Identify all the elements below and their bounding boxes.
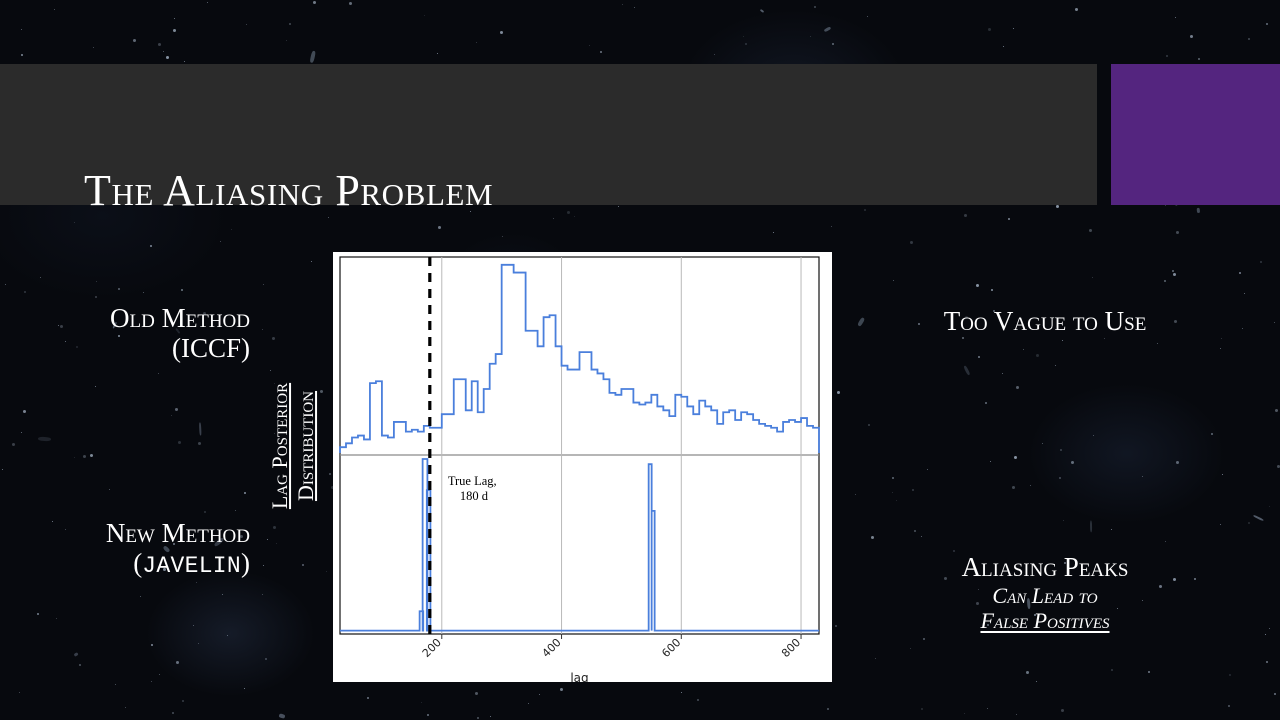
xtick-label-600: 600 xyxy=(659,636,683,660)
star xyxy=(349,2,352,5)
star xyxy=(83,455,86,458)
star-streak xyxy=(1253,514,1264,520)
star xyxy=(1003,46,1004,47)
caption-new-method-line2: (JAVELIN) xyxy=(10,548,250,580)
star xyxy=(5,284,6,285)
star xyxy=(244,492,246,494)
star-streak xyxy=(964,366,971,376)
star xyxy=(326,571,327,572)
xtick-label-400: 400 xyxy=(540,636,564,660)
star xyxy=(262,329,263,330)
star xyxy=(1269,628,1270,629)
star xyxy=(567,211,570,214)
star-streak xyxy=(73,652,78,657)
star xyxy=(490,716,491,717)
star xyxy=(181,289,183,291)
caption-aliasing-sub2: False Positives xyxy=(895,609,1195,634)
star xyxy=(1239,272,1241,274)
star xyxy=(987,708,988,709)
star-streak xyxy=(1090,520,1093,532)
star xyxy=(991,289,993,291)
star xyxy=(198,643,199,644)
star xyxy=(115,684,116,685)
star xyxy=(174,18,175,19)
star xyxy=(1229,674,1231,676)
page-title: The Aliasing Problem xyxy=(84,165,493,216)
star xyxy=(868,424,870,426)
star xyxy=(143,292,144,293)
star xyxy=(1014,456,1017,459)
star xyxy=(40,277,41,278)
star xyxy=(246,24,247,25)
star xyxy=(231,229,232,230)
star xyxy=(500,31,503,34)
star-streak xyxy=(278,713,285,719)
star xyxy=(1269,506,1270,507)
star xyxy=(220,241,221,242)
star xyxy=(1172,270,1174,272)
star xyxy=(1063,520,1064,521)
star xyxy=(311,261,312,262)
star xyxy=(21,54,23,56)
star xyxy=(745,43,747,45)
star xyxy=(173,29,176,32)
star xyxy=(95,386,96,387)
star xyxy=(12,443,15,446)
star xyxy=(158,373,159,374)
star xyxy=(21,432,22,433)
star xyxy=(743,36,744,37)
star xyxy=(289,23,291,25)
star xyxy=(618,206,619,207)
chart-y-axis-label: Lag Posterior Distribution xyxy=(262,363,324,528)
star xyxy=(235,510,236,511)
star xyxy=(835,625,837,627)
star xyxy=(1008,218,1010,220)
star xyxy=(263,284,264,285)
star xyxy=(574,216,575,217)
star-streak xyxy=(200,422,202,435)
star xyxy=(1277,465,1280,468)
star xyxy=(427,714,429,716)
star xyxy=(1030,485,1031,486)
star xyxy=(1242,328,1243,329)
star xyxy=(875,658,876,659)
star xyxy=(1275,409,1278,412)
star xyxy=(864,209,866,211)
star-streak xyxy=(310,50,316,62)
lag-posterior-plot: 200400600800lagTrue Lag,180 d xyxy=(333,252,832,682)
star xyxy=(367,697,369,699)
star xyxy=(1228,705,1230,707)
star xyxy=(184,61,185,62)
star xyxy=(634,7,635,8)
star xyxy=(773,232,774,233)
star xyxy=(837,391,840,394)
star xyxy=(921,536,922,537)
star xyxy=(1211,433,1213,435)
star xyxy=(328,217,329,218)
star xyxy=(827,708,829,710)
star xyxy=(262,594,263,595)
slide: The Aliasing Problem Old Method (ICCF) N… xyxy=(0,0,1280,720)
star xyxy=(914,530,916,532)
star xyxy=(681,692,682,693)
star xyxy=(1075,8,1078,11)
caption-too-vague: Too Vague to Use xyxy=(905,306,1185,336)
star xyxy=(1220,348,1221,349)
star xyxy=(1036,681,1037,682)
star xyxy=(1089,229,1092,232)
caption-old-method-line2: (ICCF) xyxy=(10,333,250,363)
star xyxy=(24,291,26,293)
star xyxy=(172,712,174,714)
star xyxy=(227,635,228,636)
star xyxy=(539,694,540,695)
star xyxy=(313,1,316,4)
star xyxy=(198,442,201,445)
star xyxy=(1176,231,1179,234)
star xyxy=(589,45,590,46)
x-axis-title: lag xyxy=(570,671,588,682)
star xyxy=(910,241,913,244)
star xyxy=(1056,205,1059,208)
star xyxy=(437,53,438,54)
star xyxy=(502,236,503,237)
star xyxy=(1260,261,1262,263)
star xyxy=(1166,55,1168,57)
star xyxy=(421,702,422,703)
star xyxy=(263,565,264,566)
star xyxy=(193,625,194,626)
star-streak xyxy=(857,317,865,326)
star xyxy=(118,288,120,290)
star xyxy=(892,492,893,493)
y-axis-label-line2: Distribution xyxy=(293,382,319,508)
true-lag-annotation-line1: True Lag, xyxy=(448,474,497,488)
star xyxy=(1274,693,1276,695)
star xyxy=(158,43,161,46)
star xyxy=(1248,522,1250,524)
star xyxy=(1059,477,1061,479)
star xyxy=(600,51,602,53)
star xyxy=(1111,529,1112,530)
star xyxy=(1023,349,1024,350)
star xyxy=(178,441,181,444)
star xyxy=(1265,634,1266,635)
star xyxy=(438,226,441,229)
star xyxy=(302,564,304,566)
star xyxy=(1042,443,1043,444)
star xyxy=(272,337,275,340)
star xyxy=(19,692,20,693)
xtick-label-800: 800 xyxy=(779,636,803,660)
true-lag-annotation-line2: 180 d xyxy=(460,489,489,503)
star xyxy=(1092,277,1093,278)
method-name-iccf: ICCF xyxy=(181,333,241,363)
star xyxy=(267,539,268,540)
iccf-posterior-curve xyxy=(340,265,819,453)
star xyxy=(1248,38,1250,40)
star xyxy=(477,717,479,719)
y-axis-label-line1: Lag Posterior xyxy=(267,382,293,508)
star xyxy=(1148,671,1150,673)
caption-new-method: New Method (JAVELIN) xyxy=(10,518,250,580)
star xyxy=(1012,486,1015,489)
star xyxy=(424,15,425,16)
star xyxy=(528,703,529,704)
star xyxy=(896,500,897,501)
star xyxy=(222,594,223,595)
star xyxy=(196,582,197,583)
star xyxy=(1060,449,1062,451)
star xyxy=(1013,28,1014,29)
star xyxy=(912,489,914,491)
star xyxy=(831,226,832,227)
star xyxy=(23,410,26,413)
accent-block xyxy=(1111,64,1280,205)
star xyxy=(286,40,287,41)
star xyxy=(276,543,277,544)
star xyxy=(163,51,164,52)
star xyxy=(622,4,623,5)
star xyxy=(476,42,477,43)
star xyxy=(921,708,923,710)
star xyxy=(1026,671,1029,674)
star xyxy=(109,489,110,490)
star-streak xyxy=(38,437,51,442)
star xyxy=(560,688,563,691)
star xyxy=(1220,524,1221,525)
star xyxy=(244,688,245,689)
star xyxy=(988,28,991,31)
star xyxy=(176,661,179,664)
star xyxy=(265,658,267,660)
star xyxy=(893,280,894,281)
caption-old-method-line1: Old Method xyxy=(10,303,250,333)
star xyxy=(855,494,856,495)
star xyxy=(1244,293,1245,294)
star xyxy=(1165,205,1166,206)
xtick-label-200: 200 xyxy=(420,636,444,660)
star xyxy=(182,700,184,702)
star xyxy=(1173,273,1176,276)
star xyxy=(1175,17,1176,18)
star xyxy=(1093,435,1094,436)
star xyxy=(1221,338,1222,339)
star xyxy=(1036,354,1039,357)
star xyxy=(964,214,967,217)
star xyxy=(1176,461,1179,464)
star xyxy=(910,648,911,649)
star xyxy=(171,415,172,416)
lag-posterior-figure: 200400600800lagTrue Lag,180 d xyxy=(333,252,832,682)
paren-close: ) xyxy=(241,333,250,363)
star xyxy=(21,29,22,30)
star xyxy=(1190,35,1193,38)
star xyxy=(475,692,478,695)
star xyxy=(207,2,208,3)
star xyxy=(1055,365,1056,366)
star xyxy=(74,222,75,223)
star xyxy=(1062,340,1063,341)
star xyxy=(1198,58,1200,60)
star xyxy=(95,296,97,298)
paren-open: ( xyxy=(172,333,181,363)
star xyxy=(175,408,178,411)
star xyxy=(93,47,94,48)
star xyxy=(151,644,153,646)
star xyxy=(1002,373,1003,374)
star xyxy=(985,402,987,404)
star-streak xyxy=(760,9,765,13)
star xyxy=(133,39,136,42)
star xyxy=(125,707,126,708)
star xyxy=(1165,541,1166,542)
star xyxy=(54,9,55,10)
plot-frame xyxy=(340,257,819,634)
star xyxy=(714,54,715,55)
star xyxy=(978,356,980,358)
star-streak xyxy=(823,26,830,32)
star xyxy=(1111,669,1113,671)
caption-aliasing: Aliasing Peaks Can Lead to False Positiv… xyxy=(895,552,1195,633)
star xyxy=(1222,474,1223,475)
paren-close: ) xyxy=(241,548,250,578)
star xyxy=(96,281,97,282)
star xyxy=(927,469,928,470)
star xyxy=(964,713,965,714)
star xyxy=(37,613,39,615)
star xyxy=(1016,386,1019,389)
star xyxy=(159,674,160,675)
star xyxy=(1266,23,1268,25)
star xyxy=(1157,343,1158,344)
paren-open: ( xyxy=(133,548,142,578)
star xyxy=(814,6,816,8)
star xyxy=(867,16,868,17)
star xyxy=(553,218,554,219)
caption-new-method-line1: New Method xyxy=(10,518,250,548)
star xyxy=(56,618,57,619)
caption-old-method: Old Method (ICCF) xyxy=(10,303,250,363)
star xyxy=(1164,280,1166,282)
javelin-posterior-curve xyxy=(340,459,819,631)
star xyxy=(832,43,834,45)
star xyxy=(976,284,979,287)
star xyxy=(990,461,991,462)
star xyxy=(962,337,964,339)
star-streak xyxy=(1197,208,1200,213)
star xyxy=(1266,661,1268,663)
star xyxy=(1061,709,1064,712)
caption-aliasing-head: Aliasing Peaks xyxy=(895,552,1195,582)
star xyxy=(923,638,925,640)
star xyxy=(204,511,206,513)
caption-aliasing-sub1: Can Lead to xyxy=(895,584,1195,609)
star xyxy=(151,681,152,682)
method-name-javelin: JAVELIN xyxy=(142,553,241,579)
star xyxy=(2,469,3,470)
star xyxy=(74,457,75,458)
star xyxy=(1142,476,1143,477)
star xyxy=(1016,714,1017,715)
star xyxy=(140,596,141,597)
star xyxy=(1071,461,1074,464)
star xyxy=(892,477,894,479)
star xyxy=(871,536,874,539)
star xyxy=(79,664,81,666)
star xyxy=(1274,322,1275,323)
star xyxy=(329,473,331,475)
star xyxy=(1104,338,1105,339)
star xyxy=(90,454,93,457)
star xyxy=(810,36,811,37)
title-band: The Aliasing Problem xyxy=(0,64,1097,205)
star xyxy=(697,699,699,701)
star xyxy=(150,245,152,247)
star xyxy=(166,56,169,59)
